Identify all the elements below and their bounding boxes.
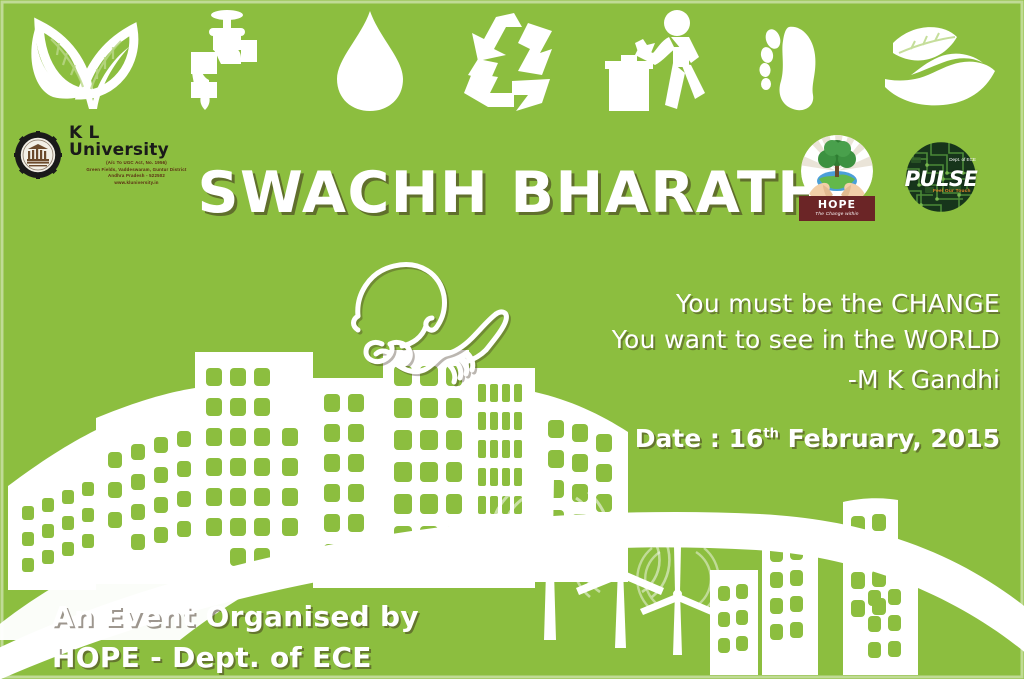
credit-line-2: HOPE - Dept. of ECE xyxy=(52,637,419,678)
leaves-icon xyxy=(26,5,144,117)
hope-logo: HOPE The Change within xyxy=(799,133,875,221)
hope-name: HOPE xyxy=(799,196,875,211)
water-tap-icon xyxy=(168,5,286,117)
kl-university-name: K L University xyxy=(69,125,204,159)
date-label: Date : xyxy=(635,424,729,453)
dispose-waste-icon xyxy=(595,5,713,117)
poster-canvas: K L University (A/c To UGC Act, No. 1956… xyxy=(0,0,1024,679)
footprint-icon xyxy=(738,5,856,117)
gandhi-line-art xyxy=(346,258,546,408)
quote-author: -M K Gandhi xyxy=(580,362,1000,398)
kl-university-sub2: Green Fields, Vaddeswaram, Guntur Distri… xyxy=(69,168,204,172)
pulse-name: PULSE xyxy=(903,167,979,191)
pulse-dept-text: Dept. of ECE xyxy=(949,157,976,162)
pulse-tagline: Feel Our Touch xyxy=(933,189,971,194)
event-date: Date : 16th February, 2015 xyxy=(635,424,1000,453)
gandhi-quote: You must be the CHANGE You want to see i… xyxy=(580,286,1000,398)
pulse-logo: PULSE Dept. of ECE Feel Our Touch xyxy=(903,139,979,215)
kl-university-seal xyxy=(14,131,62,179)
credit-line-1: An Event Organised by xyxy=(52,596,419,637)
hope-banner: HOPE The Change within xyxy=(799,196,875,221)
date-day: 16 xyxy=(729,424,764,453)
kl-university-sub3: Andhra Pradesh - 522502 xyxy=(69,174,204,178)
date-month-year: February, 2015 xyxy=(779,424,1000,453)
kl-university-text: K L University (A/c To UGC Act, No. 1956… xyxy=(69,125,204,185)
water-drop-icon xyxy=(311,5,429,117)
recycle-icon xyxy=(453,5,571,117)
kl-university-sub4: www.kluniversity.in xyxy=(69,181,204,185)
date-suffix: th xyxy=(763,427,778,442)
eco-icon-strip xyxy=(0,0,1024,122)
kl-university-logo: K L University (A/c To UGC Act, No. 1956… xyxy=(14,124,204,186)
organiser-credit: An Event Organised by HOPE - Dept. of EC… xyxy=(52,596,419,678)
quote-line-1: You must be the CHANGE xyxy=(580,286,1000,322)
kl-university-sub1: (A/c To UGC Act, No. 1956) xyxy=(69,161,204,165)
hand-leaf-icon xyxy=(880,5,998,117)
quote-line-2: You want to see in the WORLD xyxy=(580,322,1000,358)
hope-tagline: The Change within xyxy=(799,211,875,217)
